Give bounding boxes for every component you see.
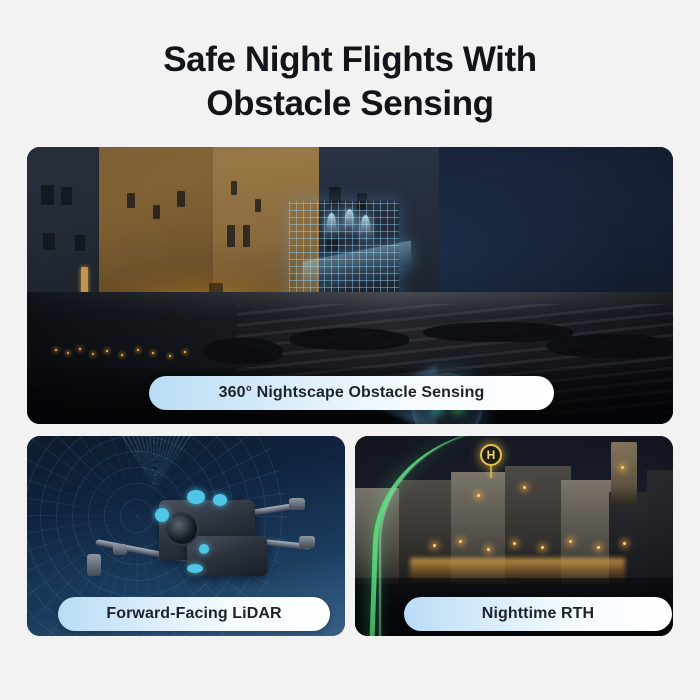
caption-pill-nightscape-sensing[interactable]: 360° Nightscape Obstacle Sensing <box>149 376 554 410</box>
caption-pill-label: 360° Nightscape Obstacle Sensing <box>219 384 485 402</box>
caption-pill-label: Forward-Facing LiDAR <box>106 605 281 623</box>
caption-pill-label: Nighttime RTH <box>482 605 594 623</box>
page-title-line-1: Safe Night Flights With <box>60 38 640 82</box>
caption-pill-forward-lidar[interactable]: Forward-Facing LiDAR <box>58 597 330 631</box>
feature-panel-group: 360° Nightscape Obstacle Sensing Forward… <box>27 147 673 636</box>
page-title-line-2: Obstacle Sensing <box>60 82 640 126</box>
feature-panel-nightscape-sensing[interactable]: 360° Nightscape Obstacle Sensing <box>27 147 673 424</box>
feature-panel-forward-lidar[interactable]: Forward-Facing LiDAR <box>27 436 345 636</box>
caption-pill-nighttime-rth[interactable]: Nighttime RTH <box>404 597 672 631</box>
feature-panel-nighttime-rth[interactable]: H Nighttime RTH <box>355 436 673 636</box>
page-title: Safe Night Flights With Obstacle Sensing <box>0 0 700 126</box>
